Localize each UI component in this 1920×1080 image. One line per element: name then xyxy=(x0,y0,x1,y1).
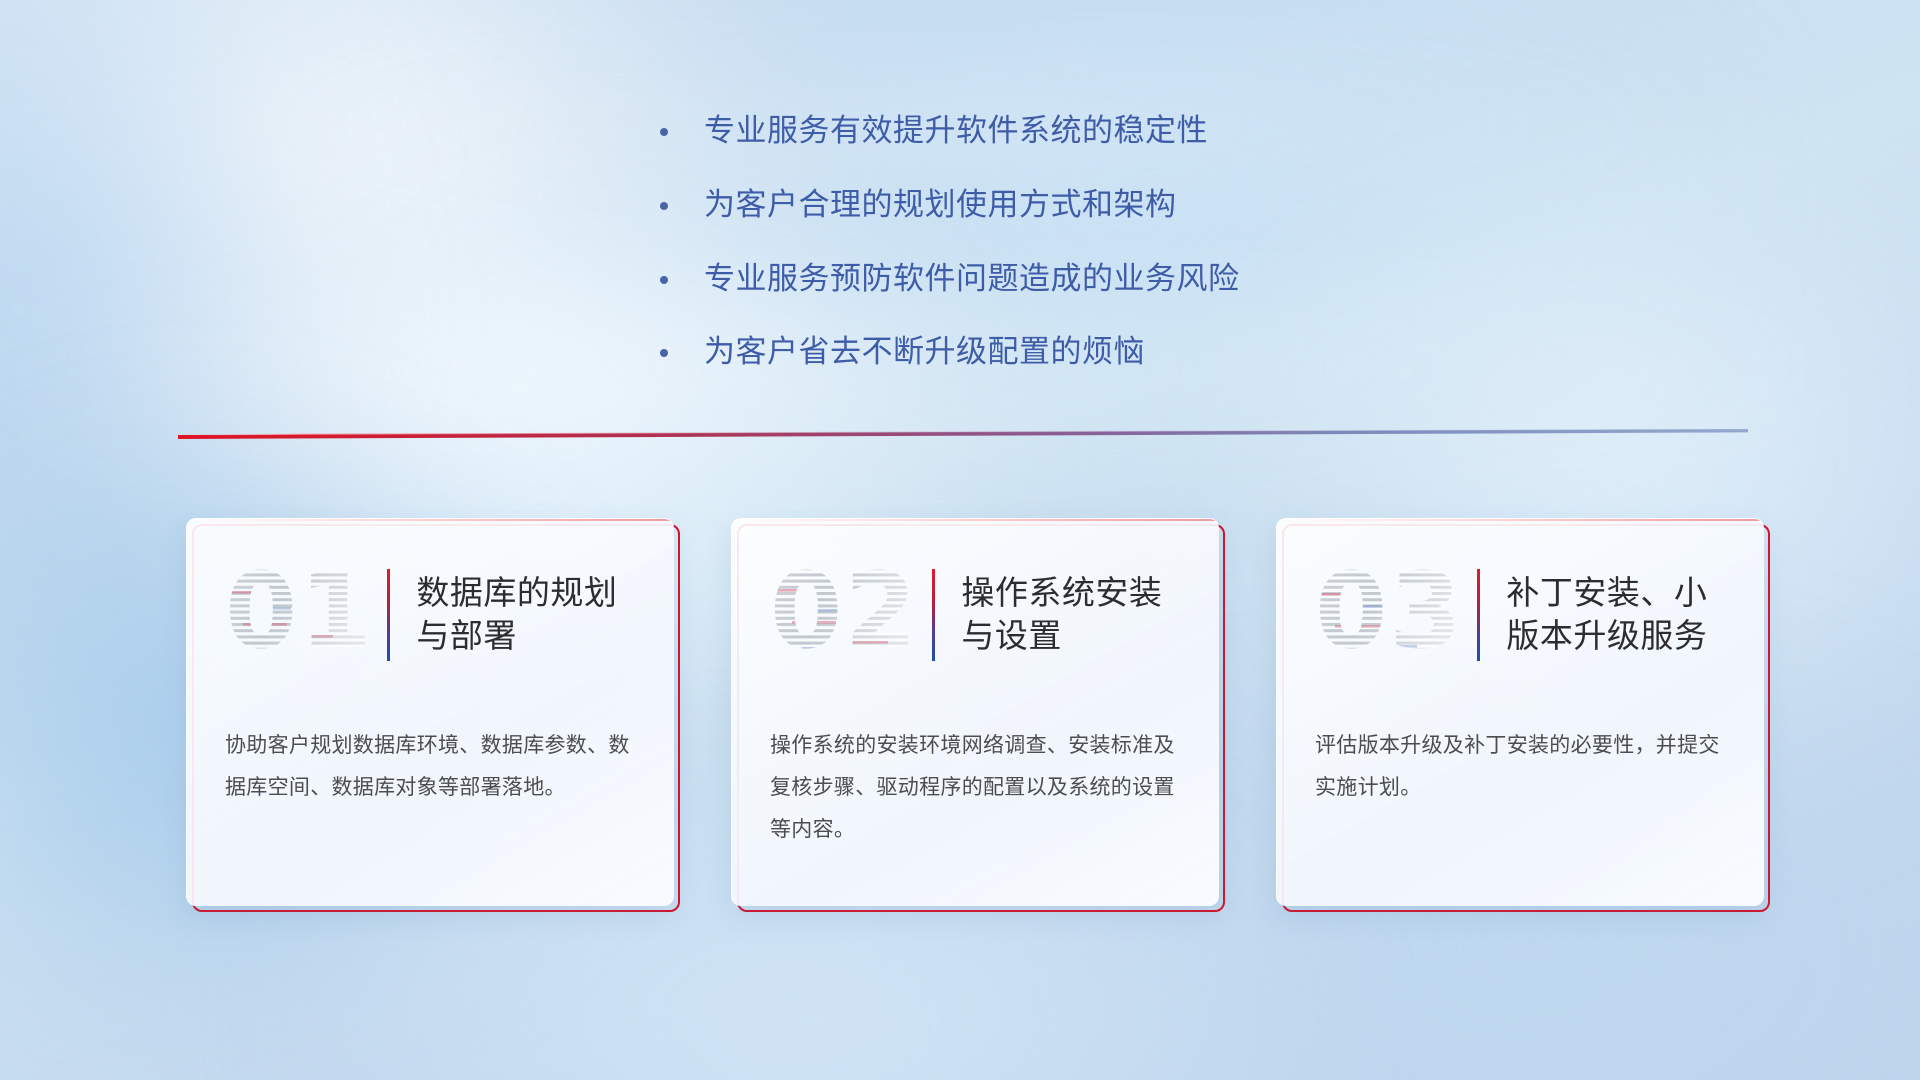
striped-number-icon: 02 xyxy=(768,561,918,669)
bullet-label: 为客户省去不断升级配置的烦恼 xyxy=(704,331,1145,374)
bullet-dot-icon xyxy=(660,276,668,284)
card-title-line-1: 补丁安装、小 xyxy=(1506,572,1707,615)
card-accent-bar xyxy=(1477,569,1480,661)
card-surface: 03 xyxy=(1276,518,1764,906)
card-number-03: 03 xyxy=(1313,561,1463,669)
service-card-list: 01 xyxy=(186,518,1764,906)
section-divider xyxy=(178,418,1748,444)
card-header: 03 xyxy=(1277,557,1764,673)
card-accent-bar xyxy=(387,569,390,661)
card-title: 补丁安装、小 版本升级服务 xyxy=(1506,572,1707,658)
card-surface: 01 xyxy=(186,518,674,906)
card-title-line-1: 操作系统安装 xyxy=(961,572,1162,615)
bullet-label: 专业服务有效提升软件系统的稳定性 xyxy=(704,110,1208,153)
card-title-line-2: 与部署 xyxy=(416,615,617,658)
card-title-line-1: 数据库的规划 xyxy=(416,572,617,615)
card-number-02: 02 xyxy=(768,561,918,669)
bullet-item: 专业服务预防软件问题造成的业务风险 xyxy=(660,258,1420,301)
card-title: 数据库的规划 与部署 xyxy=(416,572,617,658)
service-card[interactable]: 02 xyxy=(731,518,1219,906)
striped-number-icon: 01 xyxy=(223,561,373,669)
card-accent-bar xyxy=(932,569,935,661)
card-header: 02 xyxy=(732,557,1219,673)
striped-number-icon: 03 xyxy=(1313,561,1463,669)
card-title: 操作系统安装 与设置 xyxy=(961,572,1162,658)
card-title-line-2: 与设置 xyxy=(961,615,1162,658)
card-title-line-2: 版本升级服务 xyxy=(1506,615,1707,658)
service-card[interactable]: 03 xyxy=(1276,518,1764,906)
service-card[interactable]: 01 xyxy=(186,518,674,906)
bullet-item: 专业服务有效提升软件系统的稳定性 xyxy=(660,110,1420,153)
bullet-dot-icon xyxy=(660,128,668,136)
divider-tapered-line-icon xyxy=(178,418,1748,444)
bullet-dot-icon xyxy=(660,349,668,357)
bullet-label: 专业服务预防软件问题造成的业务风险 xyxy=(704,258,1240,301)
bullet-item: 为客户省去不断升级配置的烦恼 xyxy=(660,331,1420,374)
bullet-item: 为客户合理的规划使用方式和架构 xyxy=(660,184,1420,227)
card-surface: 02 xyxy=(731,518,1219,906)
card-number-01: 01 xyxy=(223,561,373,669)
benefits-bullet-list: 专业服务有效提升软件系统的稳定性 为客户合理的规划使用方式和架构 专业服务预防软… xyxy=(660,110,1420,405)
bullet-label: 为客户合理的规划使用方式和架构 xyxy=(704,184,1177,227)
card-header: 01 xyxy=(187,557,674,673)
card-description: 评估版本升级及补丁安装的必要性，并提交实施计划。 xyxy=(1315,724,1730,808)
card-description: 协助客户规划数据库环境、数据库参数、数据库空间、数据库对象等部署落地。 xyxy=(225,724,640,808)
bullet-dot-icon xyxy=(660,202,668,210)
card-description: 操作系统的安装环境网络调查、安装标准及复核步骤、驱动程序的配置以及系统的设置等内… xyxy=(770,724,1185,850)
